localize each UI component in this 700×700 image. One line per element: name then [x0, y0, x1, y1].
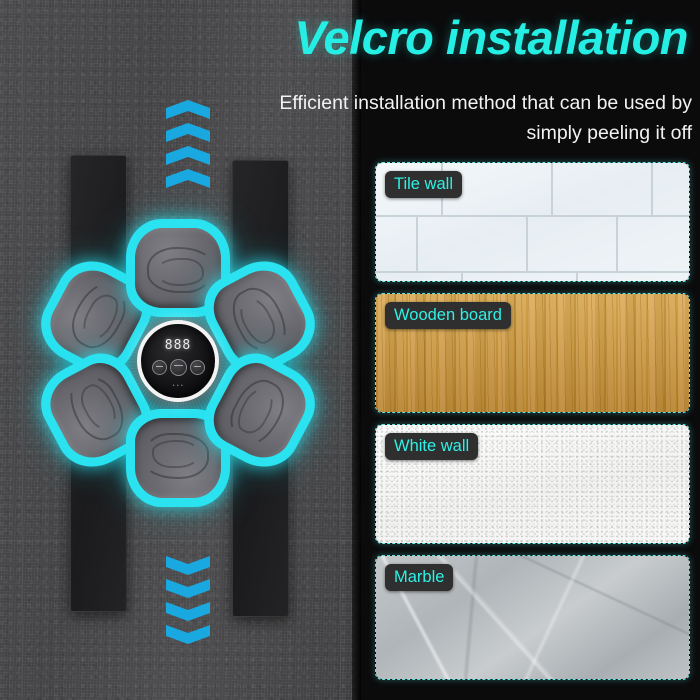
minus-button[interactable] — [152, 360, 167, 375]
chevron-up-icon — [166, 123, 210, 142]
chevron-up-icon — [166, 100, 210, 119]
digital-display: 888 — [141, 339, 215, 352]
surface-panel-white-wall[interactable]: White wall — [375, 424, 690, 544]
chevron-up-icon — [166, 146, 210, 165]
chevron-down-icon — [166, 556, 210, 575]
page-title: Velcro installation — [0, 8, 700, 68]
target-pad-top-right[interactable] — [208, 268, 312, 366]
surface-label-tile-wall: Tile wall — [385, 171, 462, 198]
chevron-down-icon — [166, 602, 210, 621]
surface-label-wooden-board: Wooden board — [385, 302, 511, 329]
chevron-up-arrows — [159, 100, 217, 192]
surface-panel-tile-wall[interactable]: Tile wall — [375, 162, 690, 282]
power-button[interactable] — [170, 359, 187, 376]
surface-label-white-wall: White wall — [385, 433, 478, 460]
pad-face — [204, 354, 315, 467]
control-dial[interactable]: 888 • • • — [137, 320, 219, 402]
surface-panel-wooden-board[interactable]: Wooden board — [375, 293, 690, 413]
surface-panel-marble[interactable]: Marble — [375, 555, 690, 680]
surface-label-marble: Marble — [385, 564, 453, 591]
chevron-down-icon — [166, 579, 210, 598]
chevron-down-arrows — [159, 556, 217, 648]
control-button-row — [141, 360, 215, 376]
chevron-down-icon — [166, 625, 210, 644]
wall-seam-horizontal — [0, 540, 361, 541]
music-boxing-trainer-device[interactable]: 888 • • • — [22, 205, 334, 517]
dial-footer-mark: • • • — [141, 383, 215, 389]
plus-button[interactable] — [190, 360, 205, 375]
product-feature-image: Velcro installation Efficient installati… — [0, 0, 700, 700]
chevron-up-icon — [166, 169, 210, 188]
target-pad-bottom-right[interactable] — [208, 362, 312, 460]
page-subtitle: Efficient installation method that can b… — [236, 88, 692, 148]
